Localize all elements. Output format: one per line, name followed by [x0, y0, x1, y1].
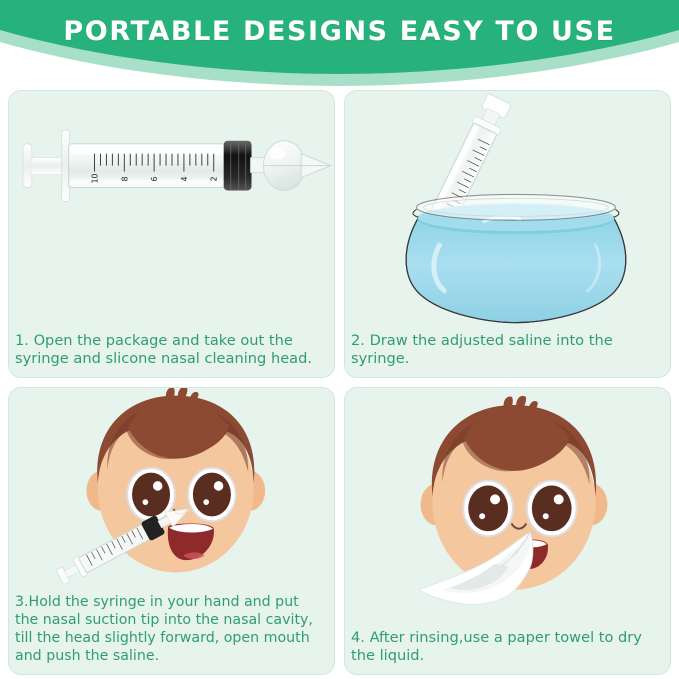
step-caption-4: 4. After rinsing,use a paper towel to dr… [345, 627, 670, 674]
glass-bowl [406, 194, 626, 322]
syringe-graphic: 10 8 6 4 2 [23, 130, 331, 202]
right-eye [527, 480, 577, 536]
graduation-label: 8 [120, 176, 129, 181]
step-caption-1: 1. Open the package and take out the syr… [9, 330, 334, 377]
step-card-1: 10 8 6 4 2 [8, 90, 335, 378]
infographic-page: PORTABLE DESIGNS EASY TO USE [0, 0, 679, 679]
rubber-stopper [224, 141, 252, 191]
left-eye [463, 480, 513, 536]
syringe-with-nasal-tip-illustration: 10 8 6 4 2 [9, 91, 334, 330]
graduation-label: 6 [150, 176, 159, 181]
graduation-label: 4 [180, 176, 189, 181]
child-face-with-syringe-at-nose-illustration [9, 388, 334, 592]
step-card-2: 2. Draw the adjusted saline into the syr… [344, 90, 671, 378]
graduation-label: 10 [90, 173, 99, 183]
step-card-3: 3.Hold the syringe in your hand and put … [8, 387, 335, 675]
silicone-nasal-tip [263, 141, 331, 191]
child-face-with-paper-towel-illustration [345, 388, 670, 627]
steps-grid: 10 8 6 4 2 [8, 90, 671, 675]
step-card-4: 4. After rinsing,use a paper towel to dr… [344, 387, 671, 675]
page-title: PORTABLE DESIGNS EASY TO USE [0, 0, 679, 62]
header-banner: PORTABLE DESIGNS EASY TO USE [0, 0, 679, 90]
graduation-label: 2 [210, 176, 219, 181]
right-eye [188, 468, 236, 521]
step-caption-2: 2. Draw the adjusted saline into the syr… [345, 330, 670, 377]
step-caption-3: 3.Hold the syringe in your hand and put … [9, 592, 334, 674]
syringe-drawing-saline-from-bowl-illustration [345, 91, 670, 330]
